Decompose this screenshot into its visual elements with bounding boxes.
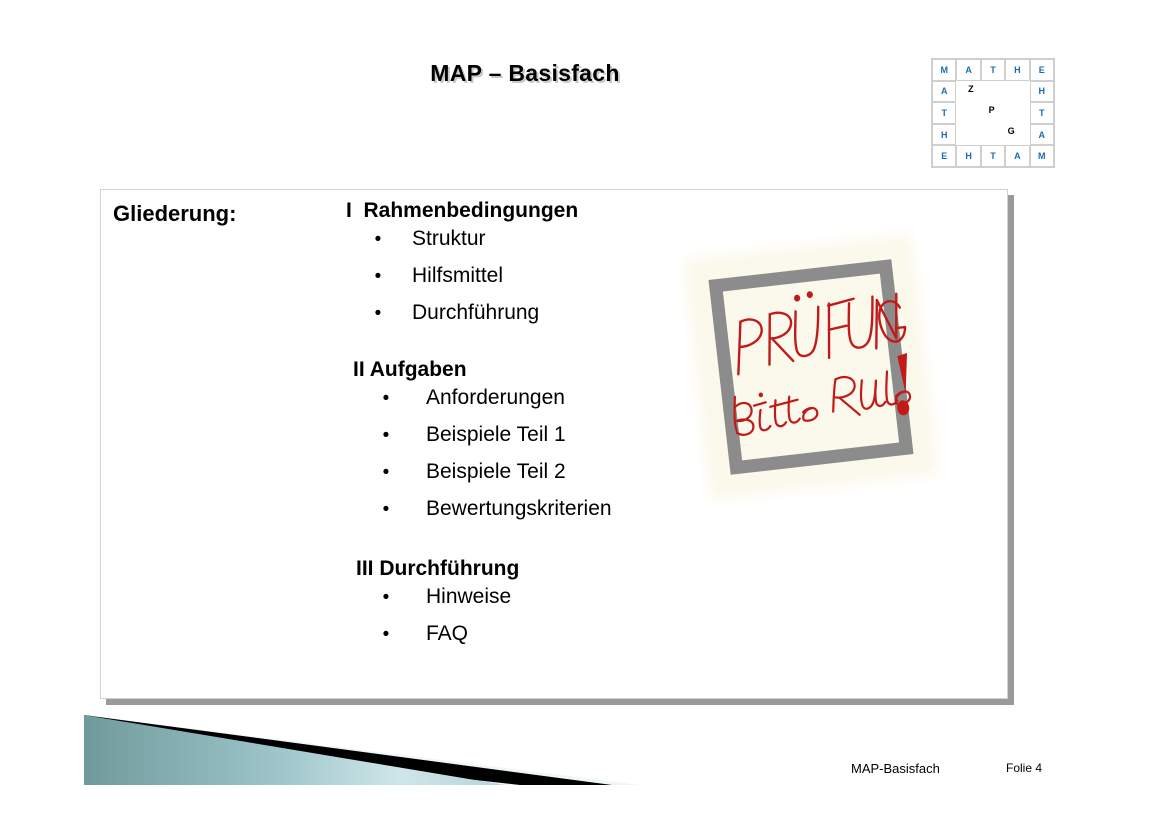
list-item: • FAQ	[369, 616, 901, 653]
logo-cell-top-4: H	[1005, 59, 1029, 81]
section-heading-1: I Rahmenbedingungen	[341, 200, 901, 221]
logo-center-letter-z: Z	[968, 84, 974, 94]
logo-cell-bottom-3: T	[981, 145, 1005, 167]
footer-document-name: MAP-Basisfach	[851, 761, 940, 776]
logo-cell-left-2: T	[932, 102, 956, 124]
logo-cell-right-1: H	[1030, 81, 1054, 103]
bullet-label: Anforderungen	[403, 380, 565, 416]
bullet-icon: •	[369, 580, 403, 616]
bullet-icon: •	[361, 259, 395, 295]
bullet-label: FAQ	[403, 616, 468, 652]
list-item: • Hinweise	[369, 579, 901, 616]
bullet-label: Beispiele Teil 2	[403, 454, 566, 490]
bullet-label: Struktur	[395, 221, 486, 257]
page-title: MAP – Basisfach	[0, 60, 1050, 87]
deco-teal-triangle	[84, 715, 505, 785]
bullet-label: Durchführung	[395, 295, 539, 331]
exclamation-stroke	[897, 353, 911, 394]
decoration-svg	[0, 707, 700, 827]
logo-cell-top-2: A	[956, 59, 980, 81]
bullet-icon: •	[369, 617, 403, 653]
logo-center-letter-g: G	[1008, 126, 1015, 136]
logo-center-area: Z P G	[956, 81, 1029, 146]
logo-center-letter-p: P	[989, 105, 995, 115]
mathe-zpg-logo: M A T H E A Z P G H T T H A E H T A M	[931, 58, 1055, 168]
logo-cell-right-2: T	[1030, 102, 1054, 124]
bullet-label: Hinweise	[403, 579, 511, 615]
content-box: Gliederung: I Rahmenbedingungen • Strukt…	[100, 189, 1008, 699]
bullet-icon: •	[361, 296, 395, 332]
bullet-icon: •	[369, 418, 403, 454]
bullet-icon: •	[369, 455, 403, 491]
logo-cell-top-5: E	[1030, 59, 1054, 81]
logo-cell-left-3: H	[932, 124, 956, 146]
exam-sign-image	[698, 248, 930, 498]
gliederung-label: Gliederung:	[113, 201, 236, 227]
bullet-label: Beispiele Teil 1	[403, 417, 566, 453]
bullet-icon: •	[361, 222, 395, 258]
logo-cell-bottom-4: A	[1005, 145, 1029, 167]
bullet-icon: •	[369, 492, 403, 528]
logo-cell-top-3: T	[981, 59, 1005, 81]
logo-cell-bottom-5: M	[1030, 145, 1054, 167]
exam-sign-paper	[694, 245, 928, 489]
logo-cell-left-1: A	[932, 81, 956, 103]
section-bullets-3: • Hinweise • FAQ	[341, 579, 901, 653]
footer-slide-number: Folie 4	[1006, 761, 1042, 775]
logo-cell-bottom-1: E	[932, 145, 956, 167]
logo-cell-top-1: M	[932, 59, 956, 81]
bullet-icon: •	[369, 381, 403, 417]
logo-cell-right-3: A	[1030, 124, 1054, 146]
bullet-label: Hilfsmittel	[395, 258, 503, 294]
exam-sign-handwriting	[694, 245, 928, 489]
outline-section-3: III Durchführung • Hinweise • FAQ	[341, 558, 901, 653]
logo-cell-bottom-2: H	[956, 145, 980, 167]
section-heading-3: III Durchführung	[341, 558, 901, 579]
bullet-label: Bewertungskriterien	[403, 491, 612, 527]
decorative-triangles	[0, 707, 700, 827]
